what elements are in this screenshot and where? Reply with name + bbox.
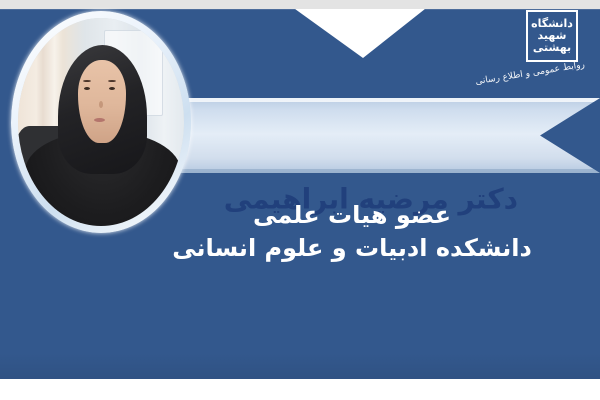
- bottom-white-margin: [0, 379, 600, 400]
- role-title: عضو هیات علمی: [142, 199, 562, 232]
- photo-mouth: [94, 118, 105, 122]
- photo-eye-left: [84, 87, 90, 90]
- role-block: عضو هیات علمی دانشکده ادبیات و علوم انسا…: [142, 199, 562, 265]
- logo-department-script: روابط عمومی و اطلاع رسانی: [489, 60, 585, 85]
- logo-line-3: بهشتی: [533, 42, 571, 54]
- portrait-photo: [18, 18, 184, 226]
- photo-eye-right: [109, 87, 115, 90]
- university-logo: دانشگاه شهید بهشتی روابط عمومی و اطلاع ر…: [486, 6, 586, 94]
- faculty-name: دانشکده ادبیات و علوم انسانی: [142, 232, 562, 265]
- logo-frame: دانشگاه شهید بهشتی: [526, 10, 578, 62]
- faculty-announcement-card: دکتر مرضیه ابراهیمی عضو هیات علمی دانشکد…: [0, 0, 600, 400]
- avatar: [11, 11, 191, 233]
- logo-wordmark: دانشگاه شهید بهشتی: [528, 12, 576, 60]
